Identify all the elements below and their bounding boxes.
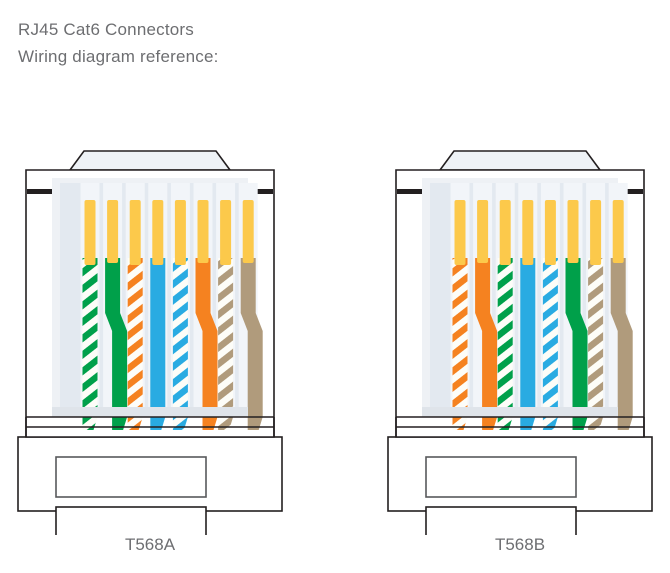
- caption-t568b: T568B: [378, 535, 662, 555]
- wire-pin-1: [83, 200, 98, 430]
- contact-pin: [243, 200, 254, 263]
- wire-conductor: [218, 258, 233, 430]
- contact-pin: [175, 200, 186, 265]
- caption-t568a: T568A: [8, 535, 292, 555]
- cable-jacket: [426, 507, 576, 535]
- contact-pin: [85, 200, 96, 265]
- wire-pin-1: [453, 200, 468, 430]
- title-line-1: RJ45 Cat6 Connectors: [18, 16, 219, 43]
- contact-pin: [130, 200, 141, 265]
- contact-pin: [477, 200, 488, 263]
- wire-conductor: [498, 258, 513, 430]
- wire-pin-5: [543, 200, 558, 430]
- title-line-2: Wiring diagram reference:: [18, 43, 219, 70]
- wire-pin-5: [173, 200, 188, 430]
- contact-pin: [455, 200, 466, 265]
- rj45-connector-svg: [8, 145, 292, 535]
- contact-pin: [613, 200, 624, 263]
- wire-pin-7: [218, 200, 233, 430]
- front-lip-band: [422, 407, 618, 417]
- rj45-connector-svg: [378, 145, 662, 535]
- wire-conductor: [173, 258, 188, 430]
- page-title: RJ45 Cat6 Connectors Wiring diagram refe…: [18, 16, 219, 70]
- contact-pin: [500, 200, 511, 265]
- boot-window: [56, 457, 206, 497]
- wire-conductor: [453, 258, 468, 430]
- latch-clip: [440, 151, 600, 170]
- wire-pin-3: [498, 200, 513, 430]
- wire-conductor: [83, 258, 98, 430]
- wire-pin-3: [128, 200, 143, 430]
- wire-conductor: [543, 258, 558, 430]
- contact-pin: [198, 200, 209, 263]
- rj45-connector-t568b: [378, 145, 662, 535]
- boot-window: [426, 457, 576, 497]
- contact-pin: [522, 200, 533, 265]
- contact-pin: [220, 200, 231, 265]
- front-lip-band: [52, 407, 248, 417]
- wire-conductor: [128, 258, 143, 430]
- wire-pin-4: [520, 200, 535, 430]
- contact-pin: [107, 200, 118, 263]
- latch-clip: [70, 151, 230, 170]
- contact-pin: [152, 200, 163, 265]
- rj45-connector-t568a: [8, 145, 292, 535]
- wire-pin-7: [588, 200, 603, 430]
- contact-pin: [545, 200, 556, 265]
- wire-conductor: [520, 258, 535, 430]
- wire-pin-4: [150, 200, 165, 430]
- contact-pin: [590, 200, 601, 265]
- wire-conductor: [588, 258, 603, 430]
- contact-pin: [568, 200, 579, 263]
- cable-jacket: [56, 507, 206, 535]
- wire-conductor: [150, 258, 165, 430]
